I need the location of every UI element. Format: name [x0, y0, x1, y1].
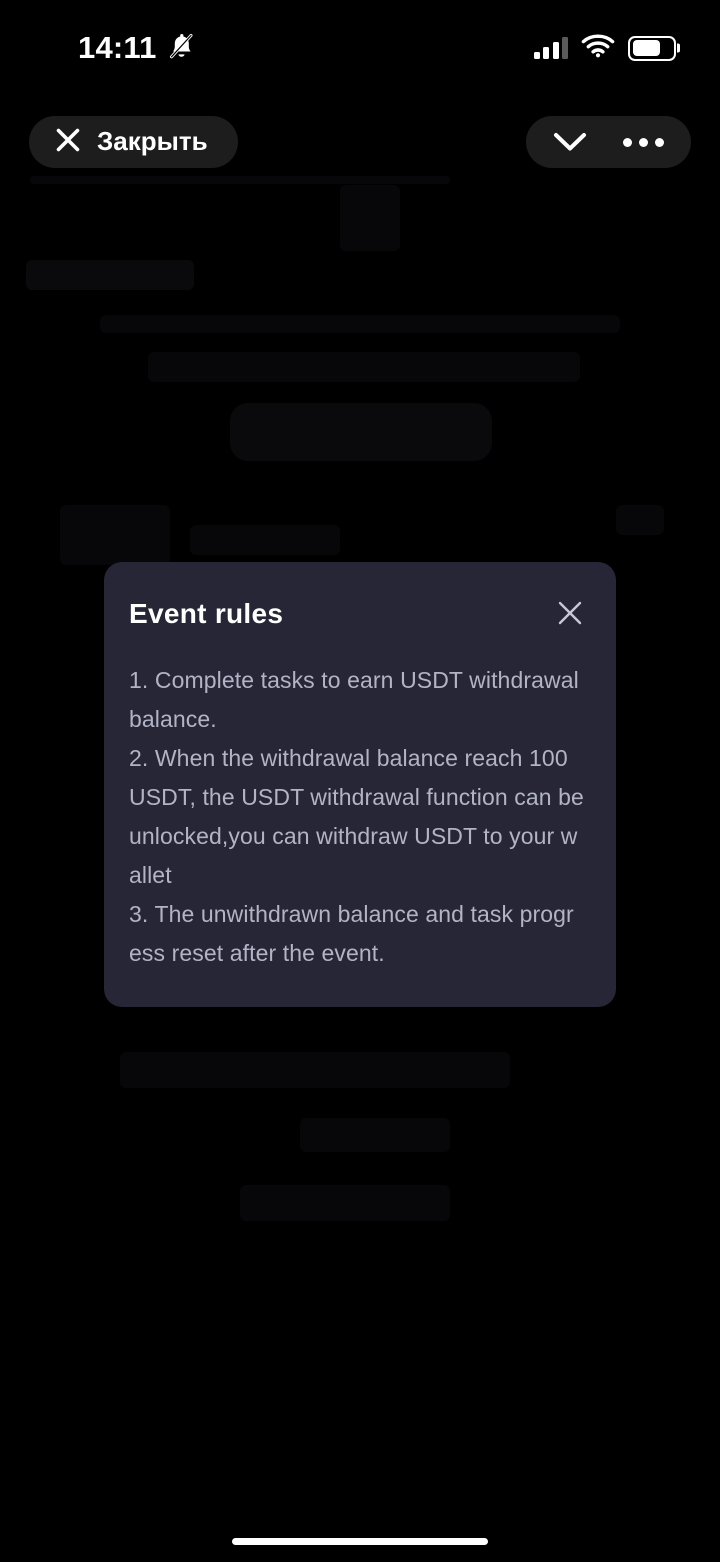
status-bar-left: 14:11: [78, 31, 195, 66]
status-bar-right: [534, 33, 677, 63]
ghost-shape: [230, 403, 492, 461]
modal-title: Event rules: [125, 600, 584, 628]
battery-icon: [628, 36, 676, 61]
ghost-shape: [100, 315, 620, 333]
rule-item: 3. The unwithdrawn balance and task prog…: [129, 895, 584, 973]
modal-close-button[interactable]: [548, 593, 592, 637]
modal-header: Event rules: [125, 600, 584, 644]
ghost-shape: [148, 352, 580, 382]
overlay-actions-group: [526, 116, 691, 168]
top-controls: Закрыть: [0, 116, 720, 170]
signal-bars-icon: [534, 37, 569, 59]
wifi-icon: [581, 33, 615, 63]
status-time: 14:11: [78, 32, 157, 65]
rule-item: 2. When the withdrawal balance reach 100…: [129, 739, 584, 895]
status-bar: 14:11: [0, 0, 720, 96]
home-indicator: [232, 1538, 488, 1545]
ghost-shape: [26, 260, 194, 290]
battery-fill: [633, 40, 660, 56]
ghost-shape: [190, 525, 340, 555]
ghost-shape: [616, 505, 664, 535]
ghost-shape: [300, 1118, 450, 1152]
ghost-shape: [120, 1052, 510, 1088]
ghost-shape: [30, 176, 450, 184]
close-x-icon: [556, 599, 584, 632]
close-button[interactable]: Закрыть: [29, 116, 238, 168]
modal-rules-list: 1. Complete tasks to earn USDT withdrawa…: [125, 661, 584, 973]
ghost-shape: [240, 1185, 450, 1221]
ghost-shape: [60, 505, 170, 565]
ghost-shape: [340, 185, 400, 251]
event-rules-modal: Event rules 1. Complete tasks to earn US…: [104, 562, 616, 1007]
more-horizontal-icon[interactable]: [623, 138, 664, 147]
close-button-label: Закрыть: [97, 128, 208, 156]
close-x-icon: [55, 127, 81, 158]
rule-item: 1. Complete tasks to earn USDT withdrawa…: [129, 661, 584, 739]
bell-mute-icon: [167, 31, 195, 66]
chevron-down-icon[interactable]: [553, 131, 587, 153]
